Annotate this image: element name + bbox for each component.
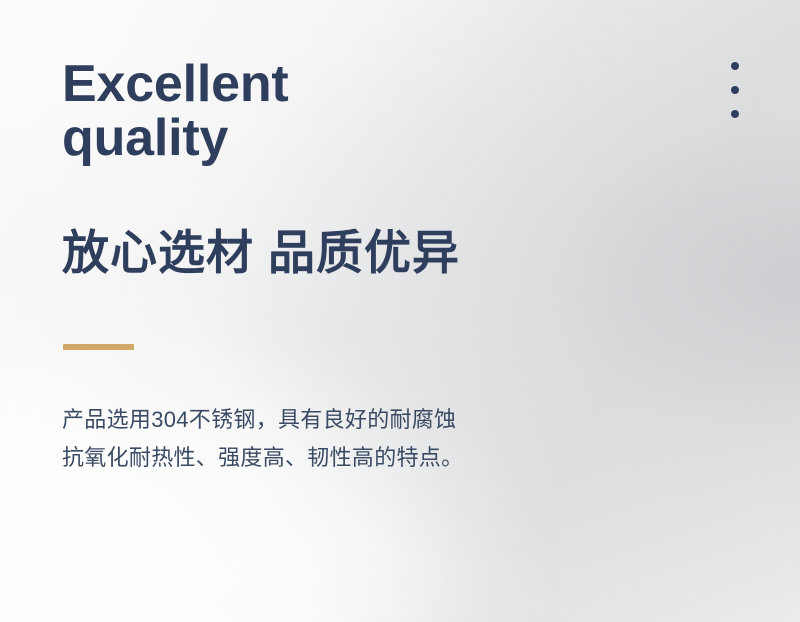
description-paragraph: 产品选用304不锈钢，具有良好的耐腐蚀 抗氧化耐热性、强度高、韧性高的特点。 — [62, 401, 582, 477]
description-line-2: 抗氧化耐热性、强度高、韧性高的特点。 — [62, 439, 582, 477]
more-dot-1 — [731, 62, 739, 70]
page-title-english: Excellent quality — [62, 57, 289, 165]
more-dot-2 — [731, 86, 739, 94]
product-quality-banner: Excellent quality 放心选材 品质优异 产品选用304不锈钢，具… — [0, 0, 800, 622]
more-vertical-icon[interactable] — [729, 62, 741, 118]
page-title-chinese: 放心选材 品质优异 — [62, 226, 460, 280]
gold-divider — [63, 344, 134, 350]
more-dot-3 — [731, 110, 739, 118]
description-line-1: 产品选用304不锈钢，具有良好的耐腐蚀 — [62, 401, 582, 439]
banner-content: Excellent quality 放心选材 品质优异 产品选用304不锈钢，具… — [62, 0, 702, 622]
